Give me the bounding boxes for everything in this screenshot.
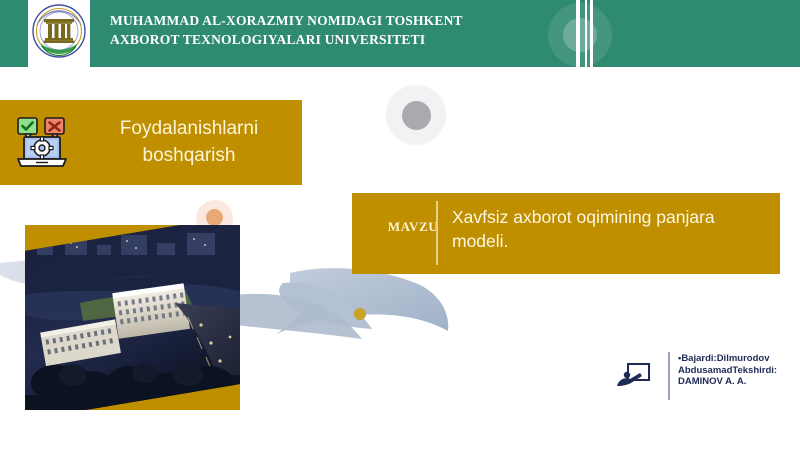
topic-label: MAVZU [374, 219, 452, 235]
header-decor-stripe-3 [590, 0, 593, 67]
laptop-gear-approval-icon [14, 114, 70, 170]
header-decor-stripe-2 [585, 0, 587, 67]
credit-line-1: •Bajardi:Dilmurodov [678, 353, 798, 365]
topic-box: MAVZU Xavfsiz axborot oqimining panjara … [352, 193, 780, 274]
decor-peach-circle [206, 209, 223, 226]
credit-text: •Bajardi:Dilmurodov AbdusamadTekshirdi: … [678, 353, 798, 388]
section-title-text: Foydalanishlarni boshqarish [84, 115, 294, 169]
university-emblem-icon [31, 3, 87, 59]
topic-divider [436, 201, 438, 265]
header-title-line2: AXBOROT TEXNOLOGIYALARI UNIVERSITETI [110, 30, 580, 49]
presenter-board-icon [616, 362, 650, 390]
section-title-line1: Foydalanishlarni [120, 118, 258, 139]
credit-line-3: DAMINOV A. A. [678, 376, 798, 388]
decor-gray-circle [402, 101, 431, 130]
credit-line-2: AbdusamadTekshirdi: [678, 365, 798, 377]
presentation-slide: MUHAMMAD AL-XORAZMIY NOMIDAGI TOSHKENT A… [0, 0, 800, 450]
topic-text-line2: modeli. [452, 231, 508, 251]
section-title-box: Foydalanishlarni boshqarish [0, 100, 302, 185]
university-campus-night-aerial-photo [25, 225, 240, 410]
header-title: MUHAMMAD AL-XORAZMIY NOMIDAGI TOSHKENT A… [110, 11, 580, 49]
section-title-line2: boshqarish [143, 145, 236, 166]
header-title-line1: MUHAMMAD AL-XORAZMIY NOMIDAGI TOSHKENT [110, 13, 463, 28]
topic-text-line1: Xavfsiz axborot oqimining panjara [452, 207, 715, 227]
campus-photo-block [25, 225, 240, 410]
credit-block: •Bajardi:Dilmurodov AbdusamadTekshirdi: … [616, 352, 794, 400]
credit-divider [668, 352, 670, 400]
topic-text: Xavfsiz axborot oqimining panjara modeli… [452, 205, 762, 253]
